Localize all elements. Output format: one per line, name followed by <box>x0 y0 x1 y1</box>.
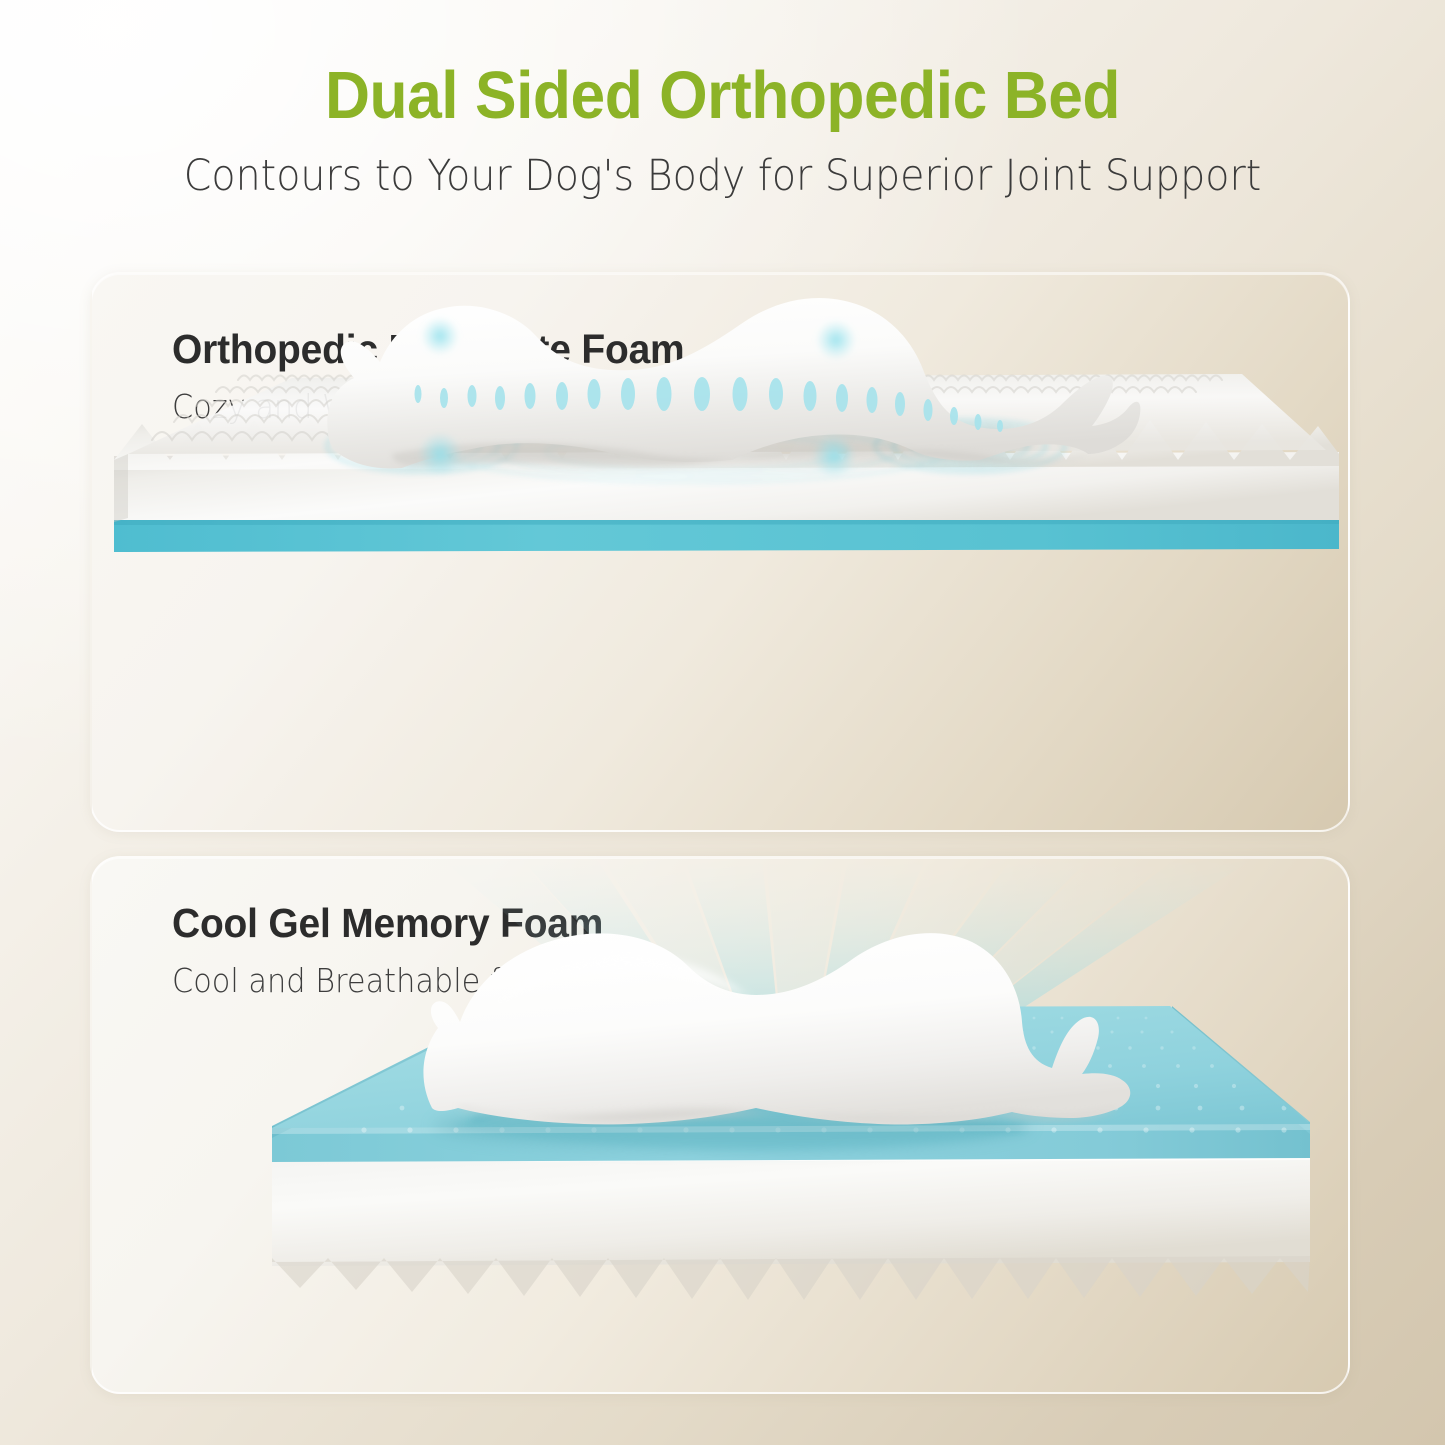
white-egg-crate-base <box>272 1152 1310 1300</box>
egg-crate-foam-illustration <box>92 274 1348 830</box>
page-subtitle: Contours to Your Dog's Body for Superior… <box>58 129 1387 198</box>
card-orthopedic-egg-crate-foam: Orthopedic Egg Crate Foam Cozy and Warm … <box>90 272 1350 832</box>
cool-gel-memory-foam-illustration <box>92 858 1348 1392</box>
page-title: Dual Sided Orthopedic Bed <box>51 0 1395 129</box>
header: Dual Sided Orthopedic Bed Contours to Yo… <box>0 0 1445 198</box>
card-cool-gel-memory-foam: Cool Gel Memory Foam Cool and Breathable… <box>90 856 1350 1394</box>
teal-base-layer <box>114 519 1339 552</box>
